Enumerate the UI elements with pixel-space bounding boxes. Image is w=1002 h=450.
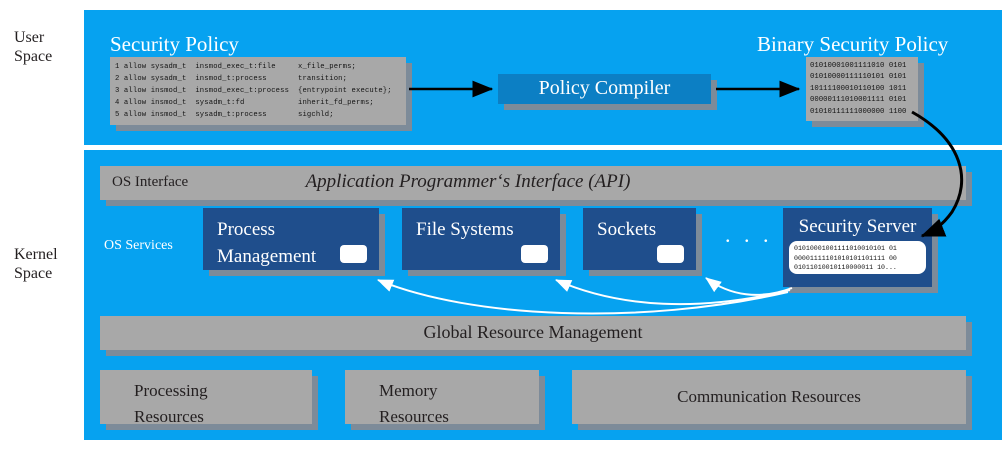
global-resource-management-bar: Global Resource Management [100,316,966,350]
service-box-security-server[interactable]: Security Server 01010001001111010010101 … [783,208,932,287]
security-server-label: Security Server [783,213,932,240]
security-hook-icon [657,245,684,263]
box-face: Security Server 01010001001111010010101 … [783,208,932,287]
resource-label: Communication Resources [572,384,966,410]
service-box-file-systems[interactable]: File Systems [402,208,560,270]
global-resource-management-label: Global Resource Management [100,322,966,343]
box-face: Policy Compiler [498,74,711,104]
box-face: Communication Resources [572,370,966,424]
service-box-sockets[interactable]: Sockets [583,208,696,270]
os-interface-bar: OS Interface Application Programmer‘s In… [100,166,966,200]
policy-compiler-label: Policy Compiler [498,77,711,100]
box-face: OS Interface Application Programmer‘s In… [100,166,966,200]
box-face: Process Management [203,208,379,270]
security-policy-code-box: 1 allow sysadm_t insmod_exec_t:file x_fi… [110,57,406,125]
api-label: Application Programmer‘s Interface (API) [100,171,966,193]
box-face: File Systems [402,208,560,270]
security-hook-icon [521,245,548,263]
security-server-bits: 01010001001111010010101 01 0000111110101… [789,241,926,274]
service-box-process-management[interactable]: Process Management [203,208,379,270]
os-services-label: OS Services [104,238,173,254]
box-face: 1 allow sysadm_t insmod_exec_t:file x_fi… [110,57,406,125]
security-policy-heading: Security Policy [110,32,239,57]
resource-label: Processing Resources [100,378,312,430]
binary-security-policy-bits: 01010001001111010 0101 01010000111110101… [810,61,906,118]
policy-compiler-box[interactable]: Policy Compiler [498,74,711,104]
box-face: Global Resource Management [100,316,966,350]
kernel-space-label: Kernel Space [14,245,58,283]
resource-box-memory: Memory Resources [345,370,539,424]
box-face: 01010001001111010 0101 01010000111110101… [806,57,918,121]
binary-security-policy-box: 01010001001111010 0101 01010000111110101… [806,57,918,121]
services-ellipsis: . . . [725,222,773,248]
box-face: Memory Resources [345,370,539,424]
service-label: File Systems [402,216,560,243]
service-label: Sockets [583,216,696,243]
resource-box-communication: Communication Resources [572,370,966,424]
user-space-label: User Space [14,28,52,66]
binary-security-policy-heading: Binary Security Policy [757,32,948,57]
box-face: Sockets [583,208,696,270]
resource-box-processing: Processing Resources [100,370,312,424]
box-face: Processing Resources [100,370,312,424]
security-policy-code-text: 1 allow sysadm_t insmod_exec_t:file x_fi… [115,61,392,121]
resource-label: Memory Resources [345,378,539,430]
security-hook-icon [340,245,367,263]
diagram-canvas: User Space Kernel Space Security Policy … [0,0,1002,450]
